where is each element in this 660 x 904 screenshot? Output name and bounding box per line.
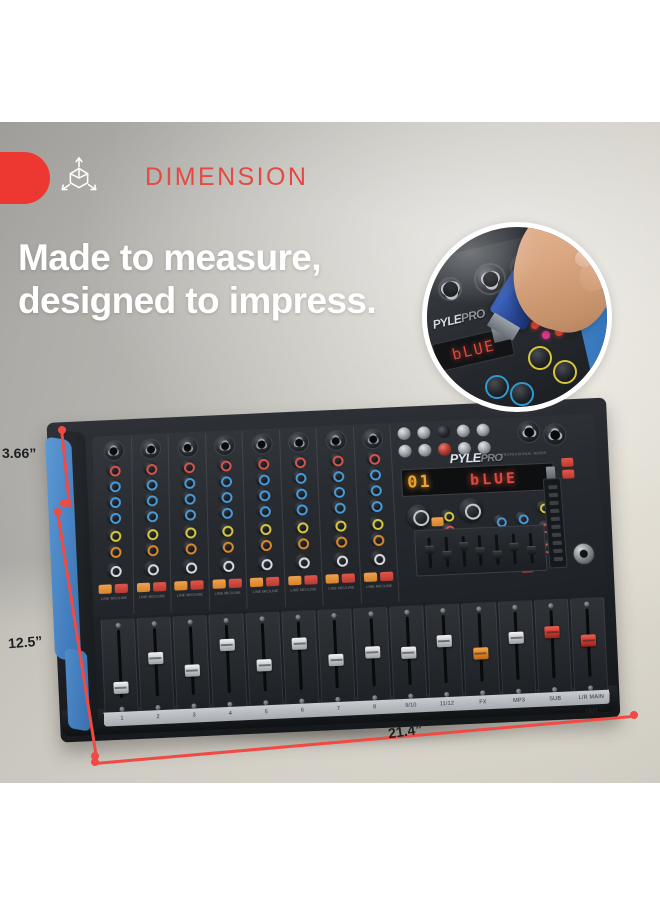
inset-knob xyxy=(528,346,552,370)
fader-label: L/R MAIN OUT xyxy=(573,690,610,706)
product-marketing-image: DIMENSION Made to measure, designed to i… xyxy=(0,0,660,904)
channel-button xyxy=(250,577,263,587)
vu-meter-led xyxy=(551,533,560,537)
combo-input-jack xyxy=(177,437,198,458)
channel-strips: LINE MIC/LINELINE MIC/LINELINE MIC/LINEL… xyxy=(95,425,400,616)
fader-cap[interactable] xyxy=(148,652,164,665)
rca-jack xyxy=(416,425,432,440)
fader-track[interactable] xyxy=(225,625,231,693)
aux-knob xyxy=(107,528,120,542)
fader-track[interactable] xyxy=(441,615,447,683)
aux-knob xyxy=(515,511,528,523)
eq-slider[interactable] xyxy=(512,534,517,564)
eq-slider-cap[interactable] xyxy=(527,546,537,554)
eq-slider[interactable] xyxy=(478,535,483,565)
fader-cap[interactable] xyxy=(219,639,235,652)
channel-button xyxy=(174,581,187,591)
master-button xyxy=(561,458,574,467)
eq-slider-cap[interactable] xyxy=(442,551,452,559)
fader-cap[interactable] xyxy=(436,635,452,648)
pan-knob xyxy=(106,562,121,578)
channel-strip-label: LINE MIC/LINE xyxy=(134,594,171,600)
vu-meter-led xyxy=(552,541,561,545)
eq-slider-cap[interactable] xyxy=(476,547,486,555)
channel-strip: LINE MIC/LINE xyxy=(242,430,285,609)
hi-knob xyxy=(181,475,194,488)
width-dimension-dot xyxy=(91,758,99,766)
channel-buttons xyxy=(212,578,241,588)
pan-knob xyxy=(144,560,159,576)
channel-button xyxy=(115,584,128,594)
fader-channel xyxy=(462,602,501,701)
combo-input-jack xyxy=(362,428,384,449)
fx-knob xyxy=(220,539,233,553)
channel-strip: LINE MIC/LINE xyxy=(169,433,210,612)
mid-knob xyxy=(256,487,269,500)
fader-channel xyxy=(209,613,248,712)
fader-screw xyxy=(187,620,192,625)
gain-knob xyxy=(292,454,305,467)
channel-buttons xyxy=(99,584,128,594)
mid-knob xyxy=(368,482,382,495)
aux-knob xyxy=(182,524,195,538)
combo-input-jack xyxy=(325,430,347,451)
xlr-output-jack xyxy=(517,420,541,443)
channel-button xyxy=(326,574,340,584)
channel-button xyxy=(363,572,377,582)
fader-channel xyxy=(353,607,392,706)
fader-track[interactable] xyxy=(550,610,556,678)
rca-jack xyxy=(436,424,452,439)
gain-knob xyxy=(181,459,194,472)
combo-input-jack xyxy=(140,438,161,459)
hi-knob xyxy=(255,472,268,485)
combo-input-jack xyxy=(103,440,124,461)
fader-label: 1 xyxy=(104,711,141,727)
channel-buttons xyxy=(363,572,393,582)
channel-buttons xyxy=(174,580,203,590)
brand-logo: PYLEPRO xyxy=(449,449,502,466)
fader-screw xyxy=(440,608,445,613)
eq-slider[interactable] xyxy=(427,538,432,568)
channel-strip: LINE MIC/LINE xyxy=(95,437,134,616)
eq-slider[interactable] xyxy=(529,533,534,563)
fader-label: 3 xyxy=(176,708,213,724)
master-button xyxy=(431,517,444,527)
gain-knob xyxy=(218,458,231,471)
fader-screw xyxy=(296,615,301,620)
aux-knob xyxy=(294,519,308,533)
fader-cap[interactable] xyxy=(329,654,345,667)
headline-line-1: Made to measure, xyxy=(18,237,321,278)
gain-knob xyxy=(255,456,268,469)
pan-knob xyxy=(370,550,386,566)
pan-knob xyxy=(182,558,197,574)
inset-display-text: bLUE xyxy=(450,336,497,363)
rca-jack xyxy=(475,422,491,437)
aux-knob xyxy=(219,523,232,537)
channel-button xyxy=(266,577,279,587)
brand-suffix: PRO xyxy=(480,452,502,465)
channel-strip-label: LINE MIC/LINE xyxy=(285,587,322,593)
vu-meter-led xyxy=(548,485,557,489)
combo-input-jack xyxy=(288,432,310,453)
channel-button xyxy=(288,576,301,586)
channel-button xyxy=(212,579,225,589)
channel-button xyxy=(304,575,317,585)
fader-screw xyxy=(224,618,229,623)
fader-cap[interactable] xyxy=(401,646,417,659)
fader-screw xyxy=(476,606,481,611)
mid-knob xyxy=(219,489,232,502)
headphone-jack xyxy=(572,542,596,565)
fader-label: MP3 xyxy=(501,693,538,709)
width-dimension-dot xyxy=(630,711,638,719)
eq-slider-cap[interactable] xyxy=(509,543,519,551)
channel-strip-label: LINE MIC/LINE xyxy=(96,596,133,602)
channel-strip: LINE MIC/LINE xyxy=(132,435,172,614)
channel-button xyxy=(99,584,112,594)
low-knob xyxy=(107,510,120,523)
fx-knob xyxy=(145,542,158,556)
aux-knob xyxy=(144,526,157,540)
fader-channel xyxy=(317,608,356,707)
fader-screw xyxy=(404,610,409,615)
rca-jack xyxy=(417,443,433,458)
channel-button xyxy=(380,572,394,582)
pan-knob xyxy=(295,553,311,569)
fx-knob xyxy=(182,540,195,554)
headline-line-2: designed to impress. xyxy=(18,280,448,323)
low-knob xyxy=(256,503,269,516)
fx-knob xyxy=(333,533,347,547)
gain-knob xyxy=(366,451,380,464)
fader-label: 5 xyxy=(248,704,285,720)
fader-screw xyxy=(151,621,156,626)
fader-label: FX xyxy=(465,695,502,711)
master-section: PYLEPRO PROFESSIONAL MIXER 01 bLUE xyxy=(392,416,606,602)
fader-channel xyxy=(425,603,464,702)
vu-meter-led xyxy=(548,493,557,497)
brand-name: PYLE xyxy=(449,450,481,466)
vu-meter-led xyxy=(553,557,562,561)
fader-screw xyxy=(585,601,590,606)
channel-strip-label: LINE MIC/LINE xyxy=(209,590,246,596)
fader-label: 8 xyxy=(356,700,393,716)
hi-knob xyxy=(367,466,381,479)
channel-button xyxy=(137,583,150,593)
fader-label: 2 xyxy=(140,709,177,725)
pan-knob xyxy=(332,551,348,567)
fader-screw xyxy=(332,613,337,618)
fader-label: SUB xyxy=(537,691,574,707)
fader-channel xyxy=(173,615,212,714)
depth-dimension-dot xyxy=(54,508,62,516)
low-knob xyxy=(368,498,382,511)
fx-knob xyxy=(107,544,120,558)
low-knob xyxy=(144,508,157,521)
eq-slider[interactable] xyxy=(461,536,466,566)
channel-buttons xyxy=(137,582,166,592)
vu-meter-led xyxy=(550,509,559,513)
aux-knob xyxy=(493,514,506,527)
fader-label: 7 xyxy=(320,701,357,717)
fader-cap[interactable] xyxy=(257,659,273,672)
dimension-badge xyxy=(0,152,50,204)
fader-channel xyxy=(389,605,428,704)
master-button xyxy=(562,469,575,478)
mid-knob xyxy=(293,486,306,499)
model-text: PROFESSIONAL MIXER xyxy=(501,451,546,457)
fader-screw xyxy=(368,611,373,616)
depth-dimension-label: 12.5” xyxy=(7,633,42,652)
vu-meter-led xyxy=(550,517,559,521)
hi-knob xyxy=(218,473,231,486)
fader-channel xyxy=(281,610,320,709)
low-knob xyxy=(331,500,345,513)
headline: Made to measure, designed to impress. xyxy=(18,237,448,323)
fader-cap[interactable] xyxy=(544,626,560,639)
3d-cube-dimension-icon xyxy=(56,155,102,201)
mid-knob xyxy=(144,492,157,505)
height-dimension-dot xyxy=(58,426,66,434)
fader-channel xyxy=(534,598,573,697)
usb-closeup-inset: PYLEPRO bLUE xyxy=(422,222,612,412)
display-track-number: 01 xyxy=(407,472,432,493)
channel-strip-label: LINE MIC/LINE xyxy=(171,592,208,598)
mid-knob xyxy=(330,484,344,497)
fader-cap[interactable] xyxy=(581,634,597,647)
low-knob xyxy=(294,501,307,514)
eq-slider-cap[interactable] xyxy=(493,550,503,558)
eq-slider-cap[interactable] xyxy=(425,545,435,553)
eq-slider[interactable] xyxy=(495,535,500,565)
channel-button xyxy=(191,580,204,590)
channel-strip-label: LINE MIC/LINE xyxy=(361,584,398,590)
eq-slider-cap[interactable] xyxy=(458,542,468,550)
low-knob xyxy=(182,506,195,519)
channel-buttons xyxy=(288,575,318,585)
fader-label: 6 xyxy=(284,703,321,719)
fader-cap[interactable] xyxy=(509,631,525,644)
channel-buttons xyxy=(326,573,356,583)
gain-knob xyxy=(106,463,119,476)
fader-screw xyxy=(548,603,553,608)
hi-knob xyxy=(293,470,306,483)
fader-track[interactable] xyxy=(261,623,267,691)
combo-input-jack xyxy=(214,435,235,456)
fader-channel xyxy=(245,612,284,711)
height-dimension-label: 3.66” xyxy=(2,445,36,461)
combo-input-jack xyxy=(251,433,272,454)
graphic-eq-panel xyxy=(414,524,548,576)
fader-cap[interactable] xyxy=(113,681,129,694)
fader-cap[interactable] xyxy=(184,664,200,677)
pan-knob xyxy=(219,557,234,573)
channel-strip-label: LINE MIC/LINE xyxy=(323,585,360,591)
audio-mixer-product: LINE MIC/LINELINE MIC/LINELINE MIC/LINEL… xyxy=(32,389,638,775)
fader-label: 9/10 xyxy=(393,698,430,714)
fader-cap[interactable] xyxy=(365,646,381,659)
gain-knob xyxy=(144,461,157,474)
fader-channel xyxy=(100,618,139,717)
rca-column xyxy=(416,425,433,458)
dimension-badge-label: DIMENSION xyxy=(145,163,308,192)
hi-knob xyxy=(107,478,120,491)
aux-knob xyxy=(257,521,270,535)
hi-knob xyxy=(144,477,157,490)
fader-label: 4 xyxy=(212,706,249,722)
inset-scene: PYLEPRO bLUE xyxy=(427,227,607,407)
eq-slider[interactable] xyxy=(444,537,449,567)
channel-button xyxy=(153,582,166,592)
fx-knob xyxy=(370,532,384,546)
rca-jack xyxy=(455,423,471,438)
fader-cap[interactable] xyxy=(292,637,308,650)
low-knob xyxy=(219,505,232,518)
fader-track[interactable] xyxy=(189,627,195,695)
mid-knob xyxy=(181,491,194,504)
fader-channel xyxy=(570,597,609,696)
rca-jack xyxy=(397,443,413,458)
vu-meter-led xyxy=(551,525,560,529)
fader-screw xyxy=(512,605,517,610)
channel-strip: LINE MIC/LINE xyxy=(353,425,399,604)
hi-knob xyxy=(330,468,343,481)
gain-knob xyxy=(329,452,342,465)
fader-track[interactable] xyxy=(297,622,303,690)
led-display: 01 bLUE xyxy=(401,462,556,497)
aux-knob xyxy=(369,516,383,530)
channel-buttons xyxy=(250,577,280,587)
channel-strip-label: LINE MIC/LINE xyxy=(247,589,284,595)
fader-cap[interactable] xyxy=(473,647,489,660)
aux-knob xyxy=(332,517,346,531)
vu-meter-led xyxy=(549,501,558,505)
fader-track[interactable] xyxy=(514,612,520,680)
channel-button xyxy=(342,573,356,583)
display-mode-text: bLUE xyxy=(439,468,549,491)
master-knob xyxy=(407,504,432,529)
inset-knob xyxy=(485,375,509,399)
inset-knob xyxy=(510,382,534,406)
height-dimension-dot xyxy=(60,499,68,507)
rca-jack xyxy=(396,426,412,441)
fader-channel xyxy=(498,600,537,699)
rca-column xyxy=(396,426,413,459)
mid-knob xyxy=(107,494,120,507)
vu-meter-led xyxy=(553,549,562,553)
mixer-control-surface: LINE MIC/LINELINE MIC/LINELINE MIC/LINEL… xyxy=(93,414,609,618)
fx-knob xyxy=(295,535,309,549)
xlr-output-jack xyxy=(542,423,566,446)
fx-knob xyxy=(257,537,270,551)
channel-button xyxy=(228,578,241,588)
fader-screw xyxy=(115,623,120,628)
inset-knob xyxy=(553,360,577,384)
fader-channel xyxy=(137,616,176,715)
fader-label: 11/12 xyxy=(429,696,466,712)
channel-strip: LINE MIC/LINE xyxy=(206,432,248,611)
fader-screw xyxy=(260,616,265,621)
pan-knob xyxy=(257,555,273,571)
master-knob xyxy=(458,497,484,522)
